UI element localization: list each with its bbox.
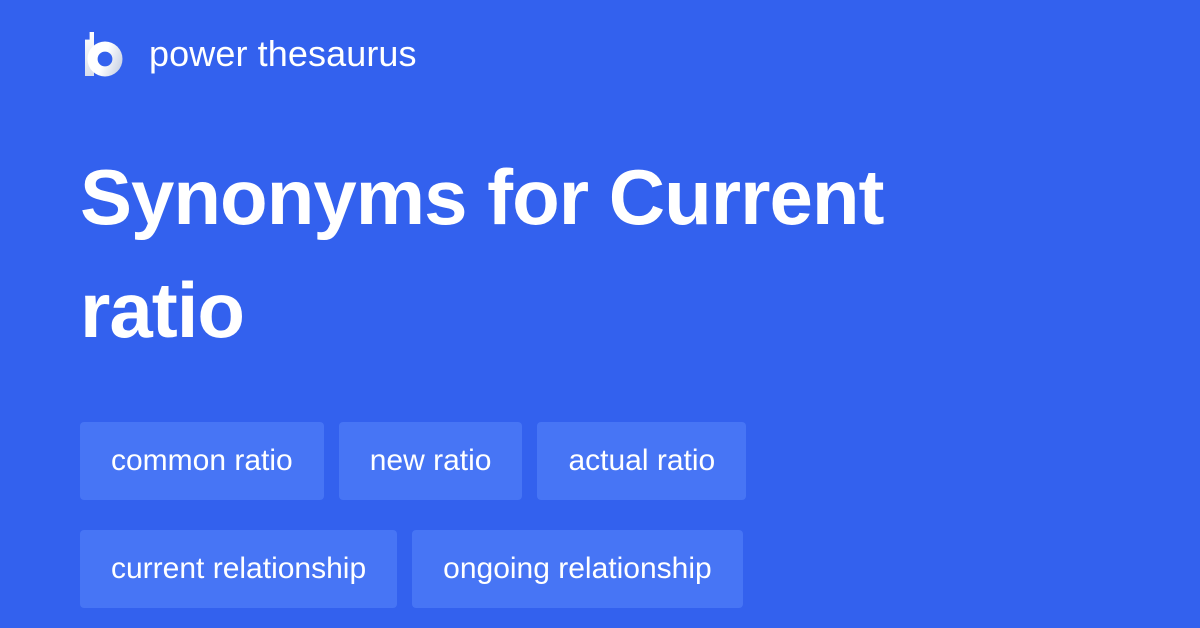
page-title: Synonyms for Current ratio <box>80 141 980 367</box>
synonym-chip-list: common ratio new ratio actual ratio curr… <box>80 422 1120 608</box>
synonym-chip[interactable]: common ratio <box>80 422 324 500</box>
synonym-chip[interactable]: new ratio <box>339 422 523 500</box>
synonym-chip[interactable]: actual ratio <box>537 422 746 500</box>
synonym-chip[interactable]: current relationship <box>80 530 397 608</box>
brand-name: power thesaurus <box>149 36 417 72</box>
synonym-chip[interactable]: ongoing relationship <box>412 530 743 608</box>
power-thesaurus-b-logo-icon <box>80 30 128 78</box>
brand-lockup[interactable]: power thesaurus <box>80 30 417 78</box>
